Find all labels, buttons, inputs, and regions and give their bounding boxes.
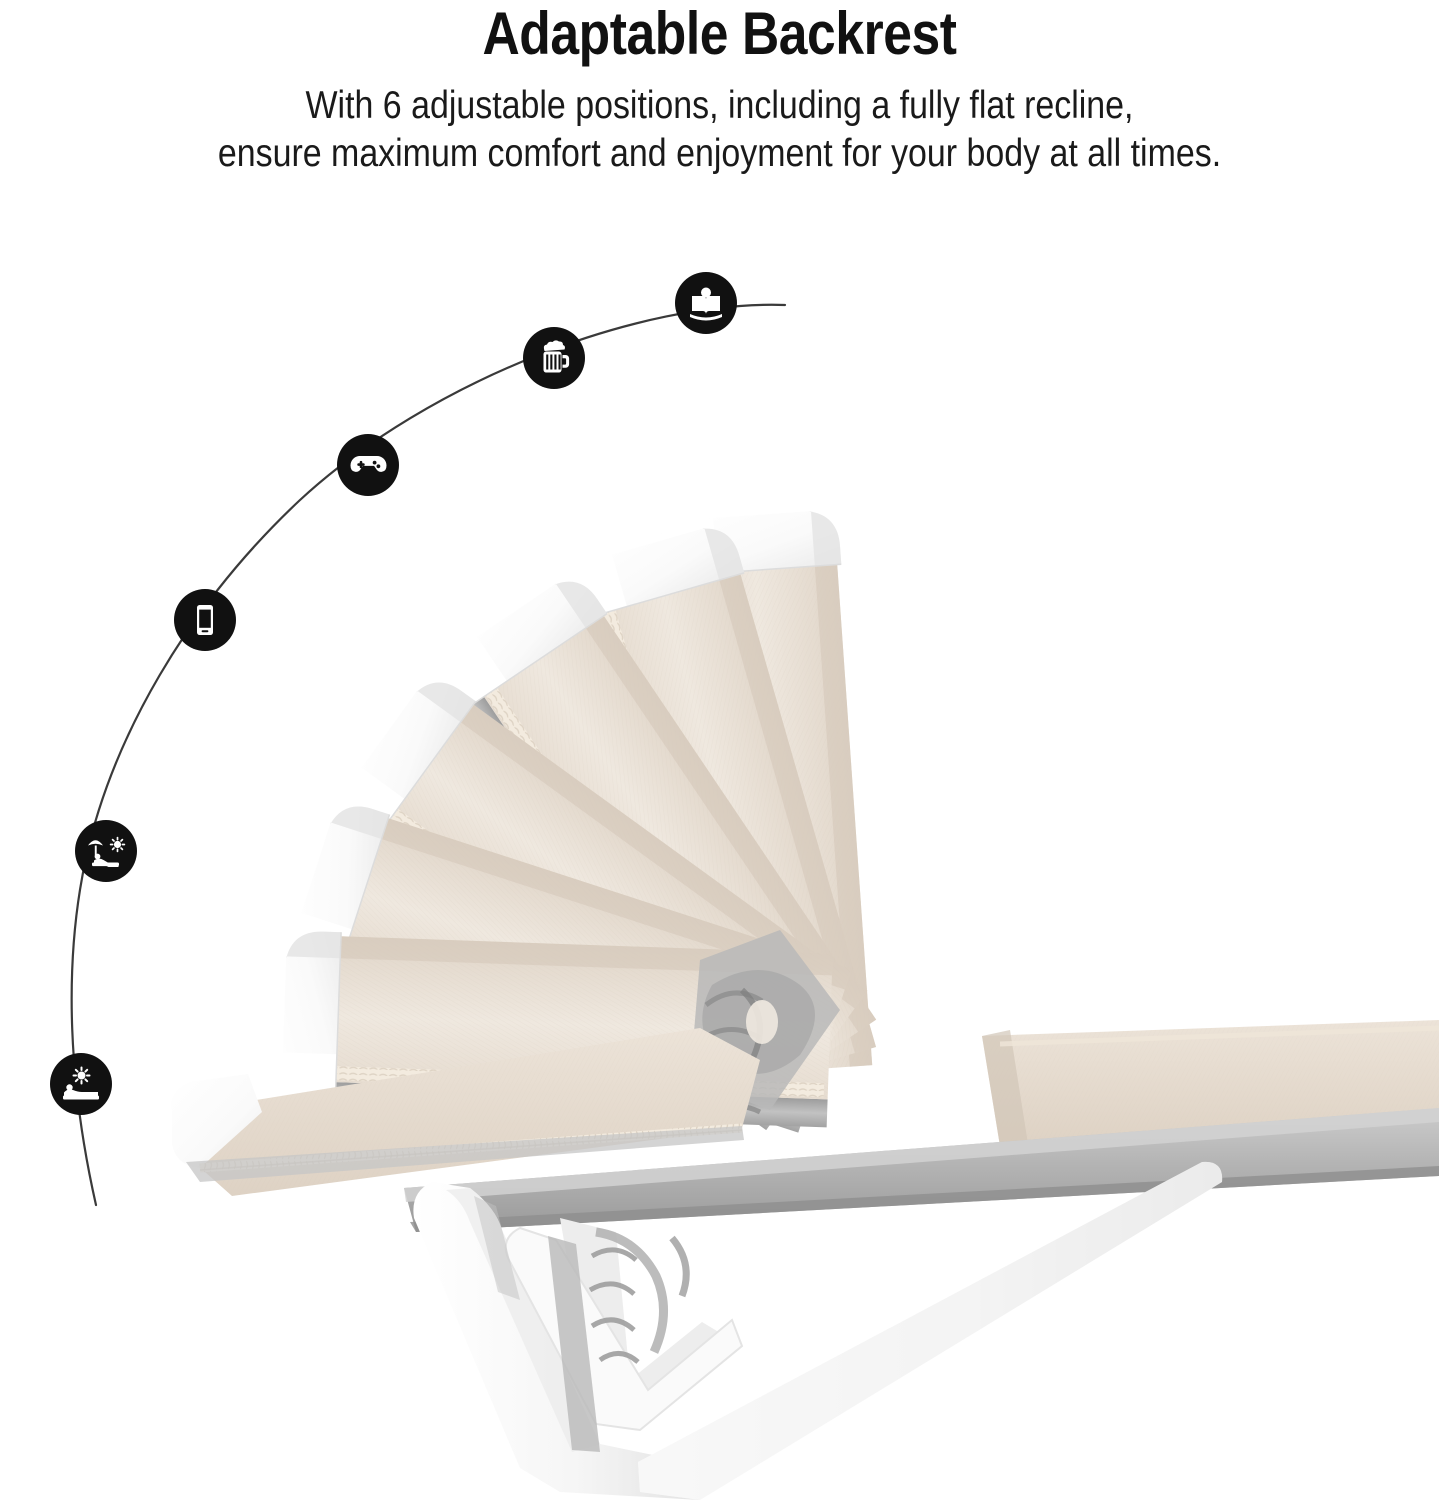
product-illustration	[0, 0, 1439, 1500]
product-feature-image: Adaptable Backrest With 6 adjustable pos…	[0, 0, 1439, 1500]
smartphone-icon[interactable]	[174, 589, 236, 651]
gamepad-icon[interactable]	[337, 434, 399, 496]
sunbathing-flat-icon[interactable]	[50, 1053, 112, 1115]
parasol-lounger-icon[interactable]	[75, 820, 137, 882]
beer-mug-icon[interactable]	[523, 327, 585, 389]
reading-book-icon[interactable]	[675, 272, 737, 334]
